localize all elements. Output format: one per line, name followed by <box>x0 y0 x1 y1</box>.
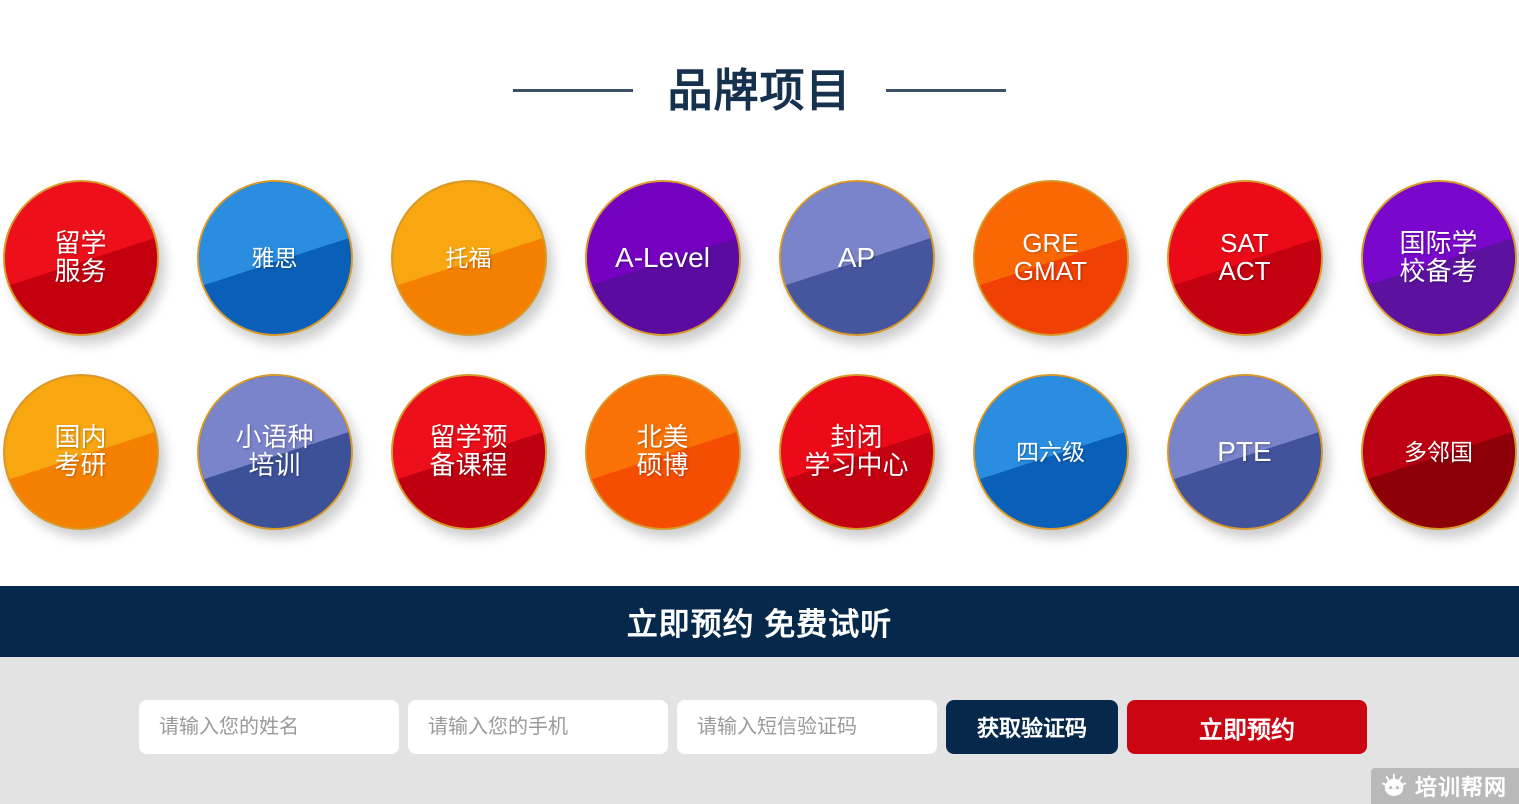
program-bubble[interactable]: SAT ACT <box>1167 180 1323 336</box>
program-bubble[interactable]: 四六级 <box>973 374 1129 530</box>
booking-form: 获取验证码 立即预约 <box>139 700 1367 754</box>
program-row: 国内 考研小语种 培训留学预 备课程北美 硕博封闭 学习中心四六级PTE多邻国 <box>0 374 1519 530</box>
booking-form-strip: 获取验证码 立即预约 <box>0 657 1519 804</box>
cta-banner-text: 立即预约 免费试听 <box>627 599 893 644</box>
program-bubble[interactable]: PTE <box>1167 374 1323 530</box>
name-input[interactable] <box>139 700 399 754</box>
bubble-sheen <box>781 376 933 528</box>
bubble-sheen <box>587 376 739 528</box>
bubble-sheen <box>975 376 1127 528</box>
program-bubble[interactable]: 雅思 <box>197 180 353 336</box>
program-bubble[interactable]: 留学 服务 <box>3 180 159 336</box>
bubble-sheen <box>5 376 157 528</box>
program-bubble[interactable]: 国际学 校备考 <box>1361 180 1517 336</box>
bubble-sheen <box>781 182 933 334</box>
sun-face-icon <box>1381 773 1407 799</box>
program-bubble[interactable]: 北美 硕博 <box>585 374 741 530</box>
program-bubble[interactable]: 多邻国 <box>1361 374 1517 530</box>
bubble-sheen <box>1363 376 1515 528</box>
title-rule-left <box>513 89 633 92</box>
bubble-sheen <box>587 182 739 334</box>
bubble-sheen <box>199 182 351 334</box>
program-row: 留学 服务雅思托福A-LevelAPGRE GMATSAT ACT国际学 校备考 <box>0 180 1519 336</box>
program-bubble[interactable]: AP <box>779 180 935 336</box>
program-bubble[interactable]: 小语种 培训 <box>197 374 353 530</box>
cta-banner: 立即预约 免费试听 <box>0 586 1519 657</box>
bubble-sheen <box>199 376 351 528</box>
program-bubble[interactable]: 留学预 备课程 <box>391 374 547 530</box>
program-bubble[interactable]: 国内 考研 <box>3 374 159 530</box>
program-bubble[interactable]: GRE GMAT <box>973 180 1129 336</box>
program-bubble[interactable]: A-Level <box>585 180 741 336</box>
page-title: 品牌项目 <box>667 68 851 113</box>
submit-booking-button[interactable]: 立即预约 <box>1127 700 1367 754</box>
bubble-sheen <box>975 182 1127 334</box>
title-rule-right <box>886 89 1006 92</box>
watermark-text: 培训帮网 <box>1415 770 1507 802</box>
program-grid: 留学 服务雅思托福A-LevelAPGRE GMATSAT ACT国际学 校备考… <box>0 180 1519 530</box>
bubble-sheen <box>393 182 545 334</box>
bubble-sheen <box>1169 376 1321 528</box>
bubble-sheen <box>393 376 545 528</box>
site-watermark: 培训帮网 <box>1371 768 1519 804</box>
bubble-sheen <box>1169 182 1321 334</box>
program-bubble[interactable]: 封闭 学习中心 <box>779 374 935 530</box>
bubble-sheen <box>5 182 157 334</box>
page-header: 品牌项目 <box>0 0 1519 180</box>
program-bubble[interactable]: 托福 <box>391 180 547 336</box>
bubble-sheen <box>1363 182 1515 334</box>
get-sms-code-button[interactable]: 获取验证码 <box>946 700 1118 754</box>
sms-code-input[interactable] <box>677 700 937 754</box>
phone-input[interactable] <box>408 700 668 754</box>
